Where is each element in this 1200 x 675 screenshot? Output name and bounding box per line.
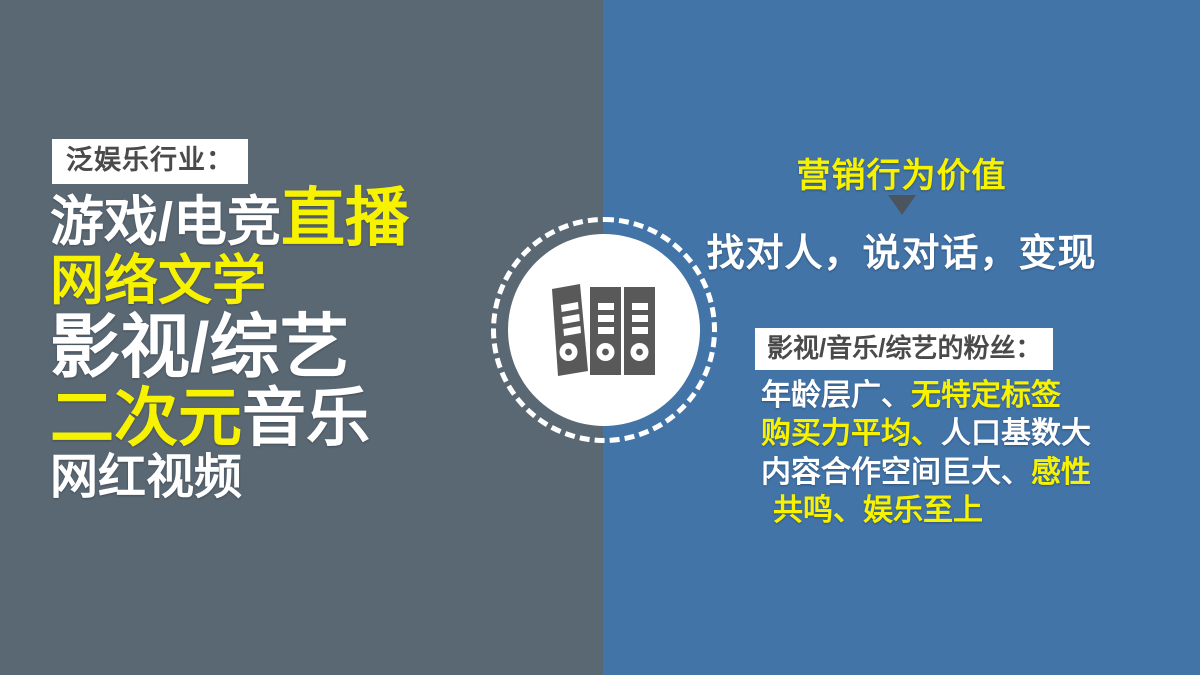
- left-keyword-livestream: 直播: [281, 182, 409, 254]
- attr-no-specific-label: 无特定标签: [911, 379, 1061, 412]
- triangle-down-icon: [888, 195, 916, 215]
- right-attribute-row-3: 内容合作空间巨大、感性: [761, 454, 1191, 492]
- attr-content-collab-space: 内容合作空间巨大、: [761, 456, 1031, 489]
- attr-wide-age-range: 年龄层广、: [761, 379, 911, 412]
- slide-root: 泛娱乐行业： 游戏/电竞直播 网络文学 影视/综艺 二次元音乐 网红视频: [0, 0, 1200, 675]
- attr-resonance-entertainment: 共鸣、娱乐至上: [773, 494, 983, 527]
- right-attribute-row-4: 共鸣、娱乐至上: [761, 492, 1191, 530]
- right-subheading: 找对人，说对话，变现: [603, 222, 1200, 277]
- right-attribute-row-2: 购买力平均、人口基数大: [761, 415, 1191, 453]
- left-category-label: 泛娱乐行业：: [52, 139, 248, 184]
- attr-large-population-base: 人口基数大: [941, 417, 1091, 450]
- right-heading: 营销行为价值: [603, 148, 1200, 197]
- left-keyword-music: 音乐: [242, 382, 370, 454]
- right-content-area: 营销行为价值 找对人，说对话，变现 影视/音乐/综艺的粉丝： 年龄层广、无特定标…: [603, 0, 1200, 675]
- right-attribute-row-1: 年龄层广、无特定标签: [761, 377, 1191, 415]
- left-keyword-film-variety: 影视/综艺: [50, 308, 349, 386]
- left-keyword-influencer-video: 网红视频: [50, 451, 242, 504]
- right-attribute-list: 年龄层广、无特定标签 购买力平均、人口基数大 内容合作空间巨大、感性 共鸣、娱乐…: [761, 377, 1191, 531]
- left-keyword-anime: 二次元: [50, 382, 242, 454]
- left-keyword-row-4: 二次元音乐: [50, 386, 590, 450]
- left-keyword-row-5: 网红视频: [50, 454, 590, 502]
- left-keyword-row-1: 游戏/电竞直播: [50, 186, 590, 250]
- left-keyword-games-esports: 游戏/电竞: [50, 192, 281, 252]
- attr-emotional: 感性: [1031, 456, 1091, 489]
- right-category-label: 影视/音乐/综艺的粉丝：: [755, 328, 1053, 370]
- attr-average-purchasing-power: 购买力平均、: [761, 417, 941, 450]
- left-keyword-web-literature: 网络文学: [50, 251, 266, 311]
